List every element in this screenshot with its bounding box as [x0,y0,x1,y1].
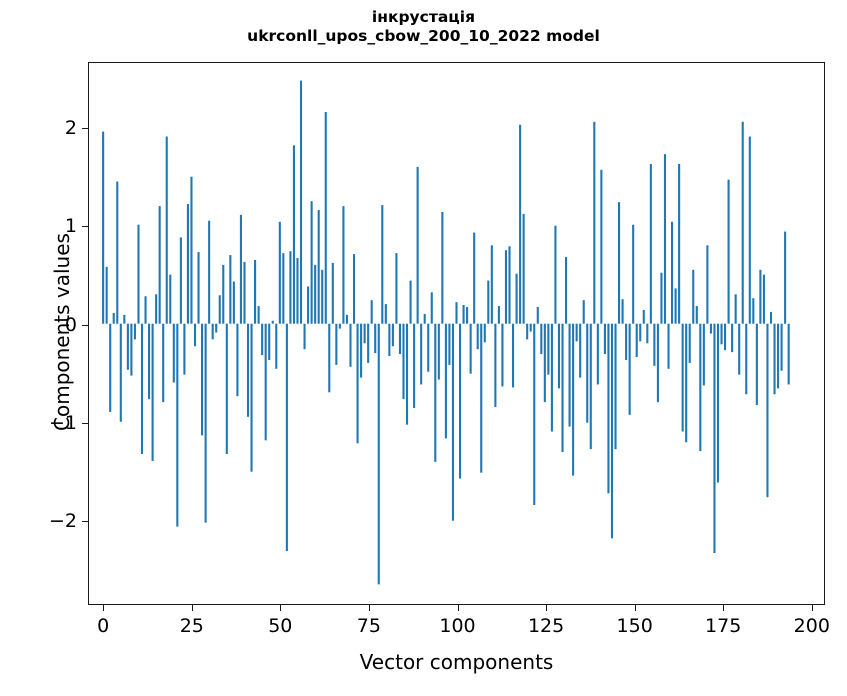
bar [258,306,260,324]
bar [470,324,472,374]
bar [650,164,652,324]
bar [519,125,521,324]
bar [148,324,150,399]
bar [190,177,192,324]
bar [484,324,486,343]
x-tick-mark [369,604,370,611]
bar [678,164,680,324]
bar [318,210,320,324]
bar [685,324,687,443]
bar [706,245,708,323]
bar [749,137,751,324]
bar [473,233,475,324]
x-tick-mark [280,604,281,611]
bar [533,324,535,505]
bar [282,253,284,324]
bar [381,205,383,324]
bar [335,324,337,365]
x-tick-mark [546,604,547,611]
bar [388,324,390,356]
bar [134,324,136,340]
bar [265,324,267,441]
bar [682,324,684,432]
bar [477,324,479,349]
bar [501,324,503,387]
bar [385,304,387,324]
bar [639,324,641,342]
bar [417,167,419,324]
bar [286,324,288,551]
bar [667,324,669,369]
bar [773,324,775,395]
bar [657,324,659,402]
bar [756,324,758,405]
y-axis-label: Components values [50,132,74,532]
bar [420,324,422,385]
bar [742,122,744,324]
bar [424,314,426,324]
bar [346,315,348,324]
bar [526,324,528,340]
bar [307,286,309,323]
x-tick-mark [192,604,193,611]
bar [222,265,224,324]
bar [544,324,546,402]
bar [586,324,588,423]
bar [173,324,175,383]
x-tick-label: 200 [794,615,830,637]
bar [325,112,327,324]
bar [353,254,355,324]
bar [378,324,380,585]
bar [180,237,182,323]
bar [155,294,157,323]
x-tick-mark [635,604,636,611]
bar [671,222,673,324]
x-axis-label: Vector components [88,650,825,674]
bar [710,324,712,334]
bar [194,324,196,347]
bar [781,324,783,371]
bar [152,324,154,461]
bar [445,324,447,439]
bar [116,182,118,324]
bar [735,294,737,323]
bar [579,324,581,378]
bar [597,324,599,385]
bar [572,324,574,476]
x-tick-mark [812,604,813,611]
bar [123,315,125,324]
bar [590,324,592,449]
bar [201,324,203,436]
bar [275,324,277,369]
bar [205,324,207,523]
bar [494,324,496,407]
bar [226,324,228,454]
bar [321,270,323,324]
bar [399,324,401,354]
bar [162,324,164,402]
y-tick-mark [82,226,89,227]
bar [600,170,602,324]
bar [463,305,465,324]
bar [339,324,341,329]
bar [413,324,415,408]
bar [660,273,662,324]
bar [187,204,189,324]
bar [328,324,330,393]
bar [604,324,606,354]
bar [427,324,429,372]
bar [766,324,768,497]
bar [120,324,122,422]
bar [505,250,507,324]
bar [611,324,613,539]
bar [696,306,698,324]
bar [304,324,306,349]
bar [268,324,270,360]
bar [137,225,139,324]
chart-title-line-2: ukrconll_upos_cbow_200_10_2022 model [0,27,847,46]
bar [402,324,404,399]
y-tick-mark [82,128,89,129]
bar [636,324,638,357]
x-tick-label: 25 [180,615,204,637]
bar [547,324,549,375]
bar [717,324,719,483]
bar [247,324,249,417]
bar [703,324,705,386]
bar [455,302,457,324]
bar [215,324,217,333]
bar [699,324,701,451]
bar [364,324,366,344]
bar [219,295,221,323]
x-tick-label: 100 [439,615,475,637]
bar [438,324,440,380]
bar [512,324,514,388]
bar [243,262,245,324]
bar [374,324,376,353]
bar [448,324,450,365]
bar [498,306,500,324]
bar [625,324,627,360]
bar [229,255,231,324]
bar [371,300,373,324]
bar [300,81,302,324]
bar [272,321,274,324]
bar [254,260,256,324]
bar [289,251,291,324]
bar [530,324,532,332]
bar [127,324,129,370]
bar [561,324,563,452]
bar [565,257,567,324]
bar [166,137,168,324]
bar [777,324,779,389]
bar [102,132,104,324]
bar [367,324,369,363]
y-tick-mark [82,423,89,424]
bar [441,212,443,324]
bar [752,298,754,323]
bar [487,281,489,324]
x-tick-label: 125 [528,615,564,637]
bar [738,324,740,375]
bar [279,222,281,324]
bar [480,324,482,473]
bar [233,282,235,324]
bar [664,154,666,324]
bar [763,275,765,324]
bar [558,324,560,389]
bar [159,206,161,324]
bar [183,324,185,375]
x-tick-label: 0 [97,615,109,637]
plot-surface [89,63,824,604]
bar [675,288,677,323]
x-tick-label: 175 [705,615,741,637]
bar [357,324,359,444]
bar [632,225,634,324]
bar [459,324,461,479]
bar [130,324,132,376]
bar [314,265,316,324]
bar [106,267,108,324]
bar [618,202,620,324]
bar [109,324,111,412]
bar [788,324,790,385]
bar [169,275,171,324]
bar [540,324,542,354]
bar [395,253,397,324]
bar [332,263,334,324]
bar [629,324,631,415]
bar [646,324,648,344]
bar [410,281,412,324]
bar [113,313,115,324]
bar [342,206,344,324]
bar [251,324,253,472]
bar [176,324,178,527]
bar [236,324,238,397]
bar [431,292,433,323]
bar [551,324,553,432]
bar [607,324,609,494]
bar [452,324,454,521]
bar [491,245,493,323]
bar [784,232,786,324]
bar [212,324,214,340]
bar [720,324,722,345]
bar [759,270,761,324]
bar [770,312,772,324]
bar [466,307,468,324]
bar [392,324,394,347]
x-tick-label: 75 [357,615,381,637]
bar [144,296,146,323]
bar [692,270,694,324]
bar [141,324,143,454]
bar [713,324,715,553]
x-tick-label: 50 [268,615,292,637]
bar [728,180,730,324]
bar [622,299,624,323]
bar [745,324,747,395]
bar [516,274,518,324]
bar [434,324,436,462]
y-tick-mark [82,325,89,326]
bar-series [89,63,824,604]
chart-figure: інкрустація ukrconll_upos_cbow_200_10_20… [0,0,847,696]
bar [569,324,571,427]
bar [508,246,510,323]
bar [731,324,733,352]
bar [293,145,295,323]
bar [576,324,578,342]
bar [311,201,313,324]
bar [593,122,595,324]
x-tick-mark [103,604,104,611]
x-tick-mark [458,604,459,611]
bar [643,310,645,324]
plot-axes: −2−1012 0255075100125150175200 [88,62,825,605]
bar [537,307,539,324]
bar [349,324,351,367]
bar [197,252,199,324]
bar [360,324,362,378]
bar [240,215,242,324]
x-tick-label: 150 [617,615,653,637]
bar [614,324,616,449]
bar [554,226,556,324]
bar [406,324,408,425]
chart-title-line-1: інкрустація [0,8,847,27]
x-tick-mark [723,604,724,611]
bar [208,221,210,324]
bar [724,324,726,350]
bar [583,300,585,324]
bar [653,324,655,366]
bar [261,324,263,355]
bar [296,258,298,324]
bar [689,324,691,363]
bar [523,214,525,324]
y-tick-mark [82,521,89,522]
chart-title: інкрустація ukrconll_upos_cbow_200_10_20… [0,8,847,47]
